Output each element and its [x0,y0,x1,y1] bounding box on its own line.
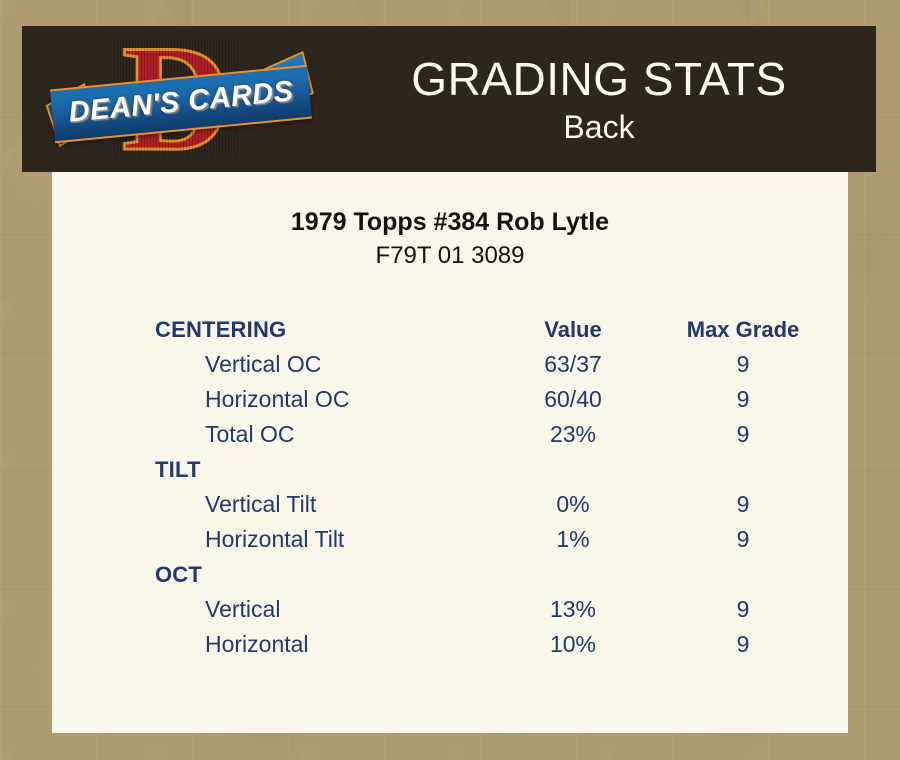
stats-row-label: Horizontal Tilt [205,522,344,557]
stats-row: Vertical OC63/379 [52,347,848,382]
stats-row-label: Vertical Tilt [205,487,316,522]
stats-row-label: Vertical [205,592,280,627]
stats-row-max-grade: 9 [653,382,833,417]
stats-row-value: 1% [473,522,673,557]
stats-section-label: TILT [155,452,201,487]
header-bar: D DEAN'S CARDS GRADING STATS Back [22,26,876,172]
stats-row-max-grade: 9 [653,417,833,452]
stats-row-label: Horizontal OC [205,382,349,417]
grading-stats-page: D DEAN'S CARDS GRADING STATS Back 1979 T… [0,0,900,760]
stats-row-max-grade: 9 [653,592,833,627]
stats-row-value: 13% [473,592,673,627]
stats-row: Horizontal10%9 [52,627,848,662]
stats-row: Horizontal OC60/409 [52,382,848,417]
stats-section-row: TILT [52,452,848,487]
grading-stats-table: CENTERINGValueMax GradeVertical OC63/379… [52,312,848,662]
card-title: 1979 Topps #384 Rob Lytle [52,208,848,237]
column-header-max-grade: Max Grade [653,312,833,347]
stats-row: Horizontal Tilt1%9 [52,522,848,557]
stats-section-row: OCT [52,557,848,592]
column-header-value: Value [473,312,673,347]
stats-row-value: 23% [473,417,673,452]
stats-row-label: Horizontal [205,627,309,662]
stats-section-label: CENTERING [155,312,286,347]
stats-row-label: Total OC [205,417,294,452]
stats-section-row: CENTERINGValueMax Grade [52,312,848,347]
stats-row-value: 60/40 [473,382,673,417]
stats-section-label: OCT [155,557,202,592]
stats-row: Vertical Tilt0%9 [52,487,848,522]
stats-row-value: 0% [473,487,673,522]
stats-row-max-grade: 9 [653,347,833,382]
page-subtitle: Back [322,108,876,146]
stats-row-max-grade: 9 [653,627,833,662]
stats-row: Vertical13%9 [52,592,848,627]
stats-row-max-grade: 9 [653,522,833,557]
stats-row-value: 10% [473,627,673,662]
content-panel: 1979 Topps #384 Rob Lytle F79T 01 3089 C… [52,172,848,733]
stats-row-label: Vertical OC [205,347,321,382]
page-title: GRADING STATS [322,54,876,104]
stats-row-max-grade: 9 [653,487,833,522]
stats-row: Total OC23%9 [52,417,848,452]
card-serial-number: F79T 01 3089 [52,242,848,270]
stats-row-value: 63/37 [473,347,673,382]
deans-cards-logo[interactable]: D DEAN'S CARDS [52,31,312,167]
